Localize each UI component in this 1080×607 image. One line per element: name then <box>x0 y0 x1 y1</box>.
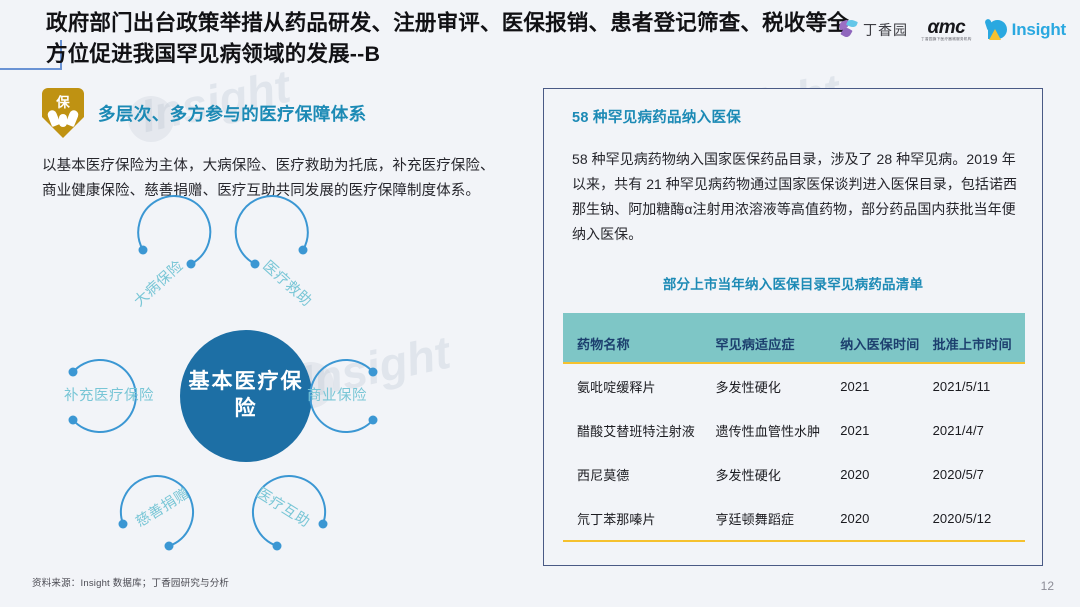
shield-icon: 保 <box>42 88 84 138</box>
page-number: 12 <box>1041 579 1054 593</box>
table-column-header-indication: 罕见病适应症 <box>715 313 840 363</box>
diagram-node-label: 商业保险 <box>291 350 383 442</box>
table-column-header-approval-date: 批准上市时间 <box>933 313 1025 363</box>
page-title: 政府部门出台政策举措从药品研发、注册审评、医保报销、患者登记筛查、税收等全方位促… <box>46 8 856 69</box>
insurance-system-diagram: 基本医疗保险 大病保险 医疗救助 <box>55 230 465 560</box>
diagram-node-shangye: 商业保险 <box>291 350 383 442</box>
dingxiangyuan-mark-icon <box>839 20 859 40</box>
drug-table-wrapper: 药物名称 罕见病适应症 纳入医保时间 批准上市时间 氨吡啶缓释片 多发性硬化 2… <box>563 313 1025 542</box>
table-row: 氨吡啶缓释片 多发性硬化 2021 2021/5/11 <box>563 363 1025 408</box>
hands-icon <box>49 110 77 130</box>
slide: Insight Insight Insight Insight 政府部门出台政策… <box>0 0 1080 607</box>
dingxiangyuan-logo: 丁香园 <box>839 20 908 40</box>
cell-approval-date: 2021/4/7 <box>933 408 1025 452</box>
cell-indication: 亨廷顿舞蹈症 <box>715 496 840 541</box>
cell-drug-name: 醋酸艾替班特注射液 <box>563 408 715 452</box>
left-column: 保 多层次、多方参与的医疗保障体系 以基本医疗保险为主体，大病保险、医疗救助为托… <box>0 82 532 562</box>
cell-indication: 多发性硬化 <box>715 363 840 408</box>
amc-logo-label: αmc <box>921 18 972 37</box>
cell-drug-name: 氨吡啶缓释片 <box>563 363 715 408</box>
diagram-node-cishan: 慈善捐赠 <box>117 462 209 554</box>
info-panel: 58 种罕见病药品纳入医保 58 种罕见病药物纳入国家医保药品目录，涉及了 28… <box>543 88 1043 566</box>
section-header: 保 多层次、多方参与的医疗保障体系 <box>42 88 367 138</box>
table-head: 药物名称 罕见病适应症 纳入医保时间 批准上市时间 <box>563 313 1025 363</box>
amc-logo-sublabel: 丁香园旗下医疗器械服务机构 <box>921 38 972 42</box>
cell-reimbursement-year: 2021 <box>840 363 932 408</box>
cell-indication: 遗传性血管性水肿 <box>715 408 840 452</box>
diagram-node-dabing: 大病保险 <box>113 238 205 330</box>
logo-group: 丁香园 αmc 丁香园旗下医疗器械服务机构 Insight <box>839 18 1066 42</box>
table-caption: 部分上市当年纳入医保目录罕见病药品清单 <box>544 273 1042 293</box>
cell-reimbursement-year: 2020 <box>840 452 932 496</box>
insight-logo-label: Insight <box>1012 20 1066 40</box>
table-row: 醋酸艾替班特注射液 遗传性血管性水肿 2021 2021/4/7 <box>563 408 1025 452</box>
panel-body-text: 58 种罕见病药物纳入国家医保药品目录，涉及了 28 种罕见病。2019 年以来… <box>572 147 1020 247</box>
cell-approval-date: 2020/5/7 <box>933 452 1025 496</box>
diagram-node-label: 补充医疗保险 <box>63 350 155 442</box>
table-column-header-reimbursement-year: 纳入医保时间 <box>840 313 932 363</box>
table-row: 氘丁苯那嗪片 亨廷顿舞蹈症 2020 2020/5/12 <box>563 496 1025 541</box>
cell-reimbursement-year: 2021 <box>840 408 932 452</box>
diagram-node-jiuzhu: 医疗救助 <box>241 238 333 330</box>
table-column-header-drug-name: 药物名称 <box>563 313 715 363</box>
section-title: 多层次、多方参与的医疗保障体系 <box>98 101 367 126</box>
cell-approval-date: 2020/5/12 <box>933 496 1025 541</box>
slide-header: 政府部门出台政策举措从药品研发、注册审评、医保报销、患者登记筛查、税收等全方位促… <box>0 0 1080 72</box>
dingxiangyuan-logo-label: 丁香园 <box>863 20 908 40</box>
insight-mark-icon <box>985 19 1007 41</box>
cell-approval-date: 2021/5/11 <box>933 363 1025 408</box>
table-row: 西尼莫德 多发性硬化 2020 2020/5/7 <box>563 452 1025 496</box>
drug-table: 药物名称 罕见病适应症 纳入医保时间 批准上市时间 氨吡啶缓释片 多发性硬化 2… <box>563 313 1025 542</box>
source-note: 资料来源：Insight 数据库；丁香园研究与分析 <box>32 575 229 589</box>
table-header-row: 药物名称 罕见病适应症 纳入医保时间 批准上市时间 <box>563 313 1025 363</box>
cell-drug-name: 氘丁苯那嗪片 <box>563 496 715 541</box>
diagram-node-huzhu: 医疗互助 <box>237 462 329 554</box>
diagram-node-buchong: 补充医疗保险 <box>63 350 155 442</box>
panel-title: 58 种罕见病药品纳入医保 <box>572 106 741 127</box>
shield-icon-label: 保 <box>42 91 84 111</box>
insight-logo: Insight <box>985 19 1066 41</box>
cell-indication: 多发性硬化 <box>715 452 840 496</box>
table-body: 氨吡啶缓释片 多发性硬化 2021 2021/5/11 醋酸艾替班特注射液 遗传… <box>563 363 1025 541</box>
cell-drug-name: 西尼莫德 <box>563 452 715 496</box>
cell-reimbursement-year: 2020 <box>840 496 932 541</box>
amc-logo: αmc 丁香园旗下医疗器械服务机构 <box>921 18 972 42</box>
